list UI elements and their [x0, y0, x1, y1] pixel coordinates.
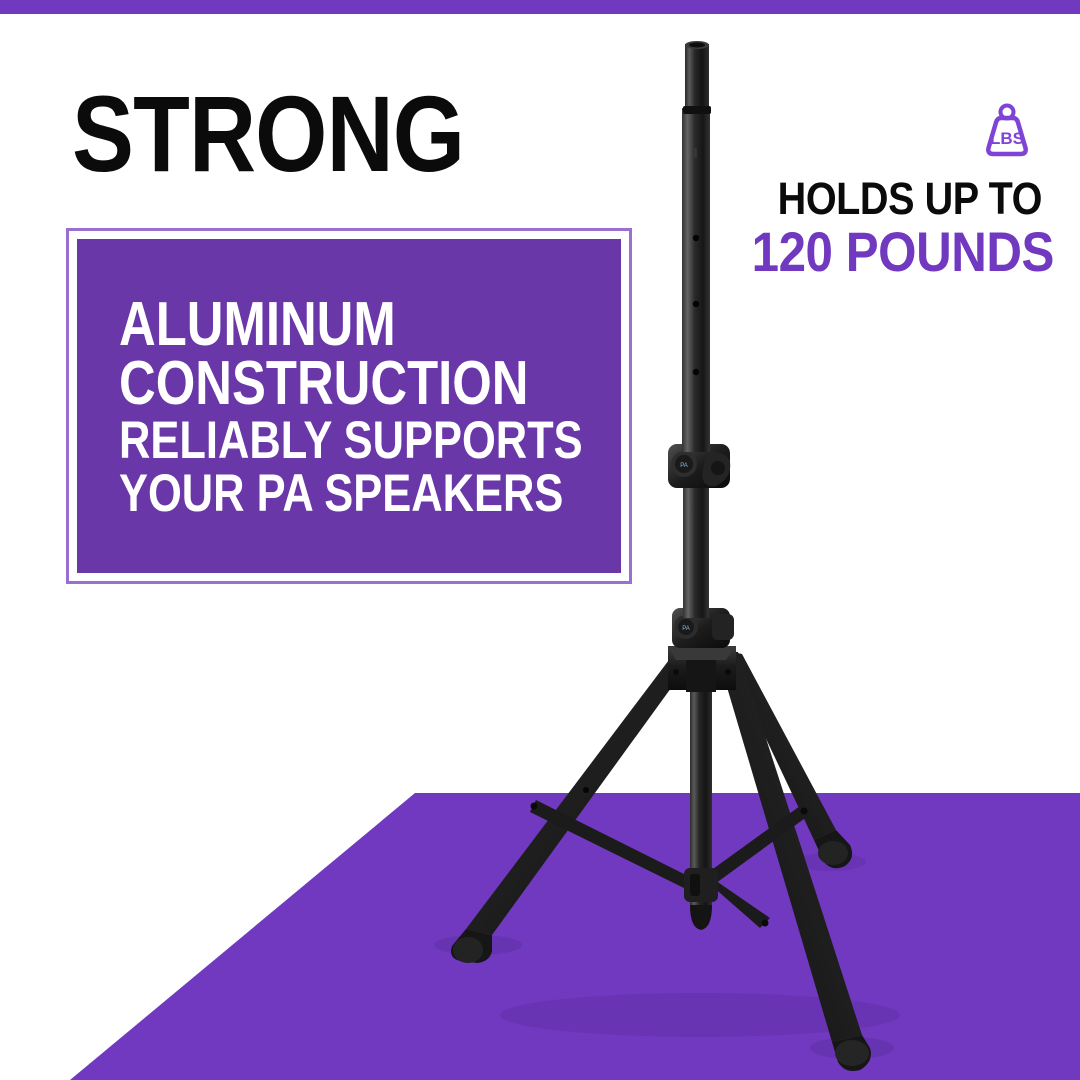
capacity-prefix-text: HOLDS UP TO	[752, 176, 1042, 221]
feature-line-2: CONSTRUCTION	[119, 355, 506, 414]
weight-lbs-icon-wrapper: LBS	[712, 100, 1038, 162]
feature-line-1: ALUMINUM	[119, 296, 506, 355]
product-banner-canvas: PA PA	[0, 0, 1080, 1080]
upper-telescoping-pole	[683, 41, 711, 114]
leg-yoke-bracket	[668, 646, 736, 692]
svg-text:PA: PA	[680, 463, 688, 469]
weight-lbs-icon: LBS	[976, 100, 1038, 162]
top-accent-strip	[0, 0, 1080, 14]
lower-main-pole	[682, 108, 710, 452]
capacity-value-text: 120 POUNDS	[752, 223, 1042, 280]
upper-clamp-knob: PA	[668, 444, 730, 488]
feature-callout-inner: ALUMINUM CONSTRUCTION RELIABLY SUPPORTS …	[77, 239, 621, 573]
svg-text:PA: PA	[682, 626, 690, 632]
feature-callout-box: ALUMINUM CONSTRUCTION RELIABLY SUPPORTS …	[66, 228, 632, 584]
lower-clamp-knob: PA	[672, 608, 734, 648]
page-title: STRONG	[72, 84, 464, 183]
weight-capacity-callout: LBS HOLDS UP TO 120 POUNDS	[712, 100, 1042, 280]
weight-icon-label: LBS	[990, 129, 1024, 148]
feature-line-3: RELIABLY SUPPORTS	[119, 414, 506, 467]
middle-tube	[683, 478, 709, 618]
feature-line-4: YOUR PA SPEAKERS	[119, 467, 506, 520]
